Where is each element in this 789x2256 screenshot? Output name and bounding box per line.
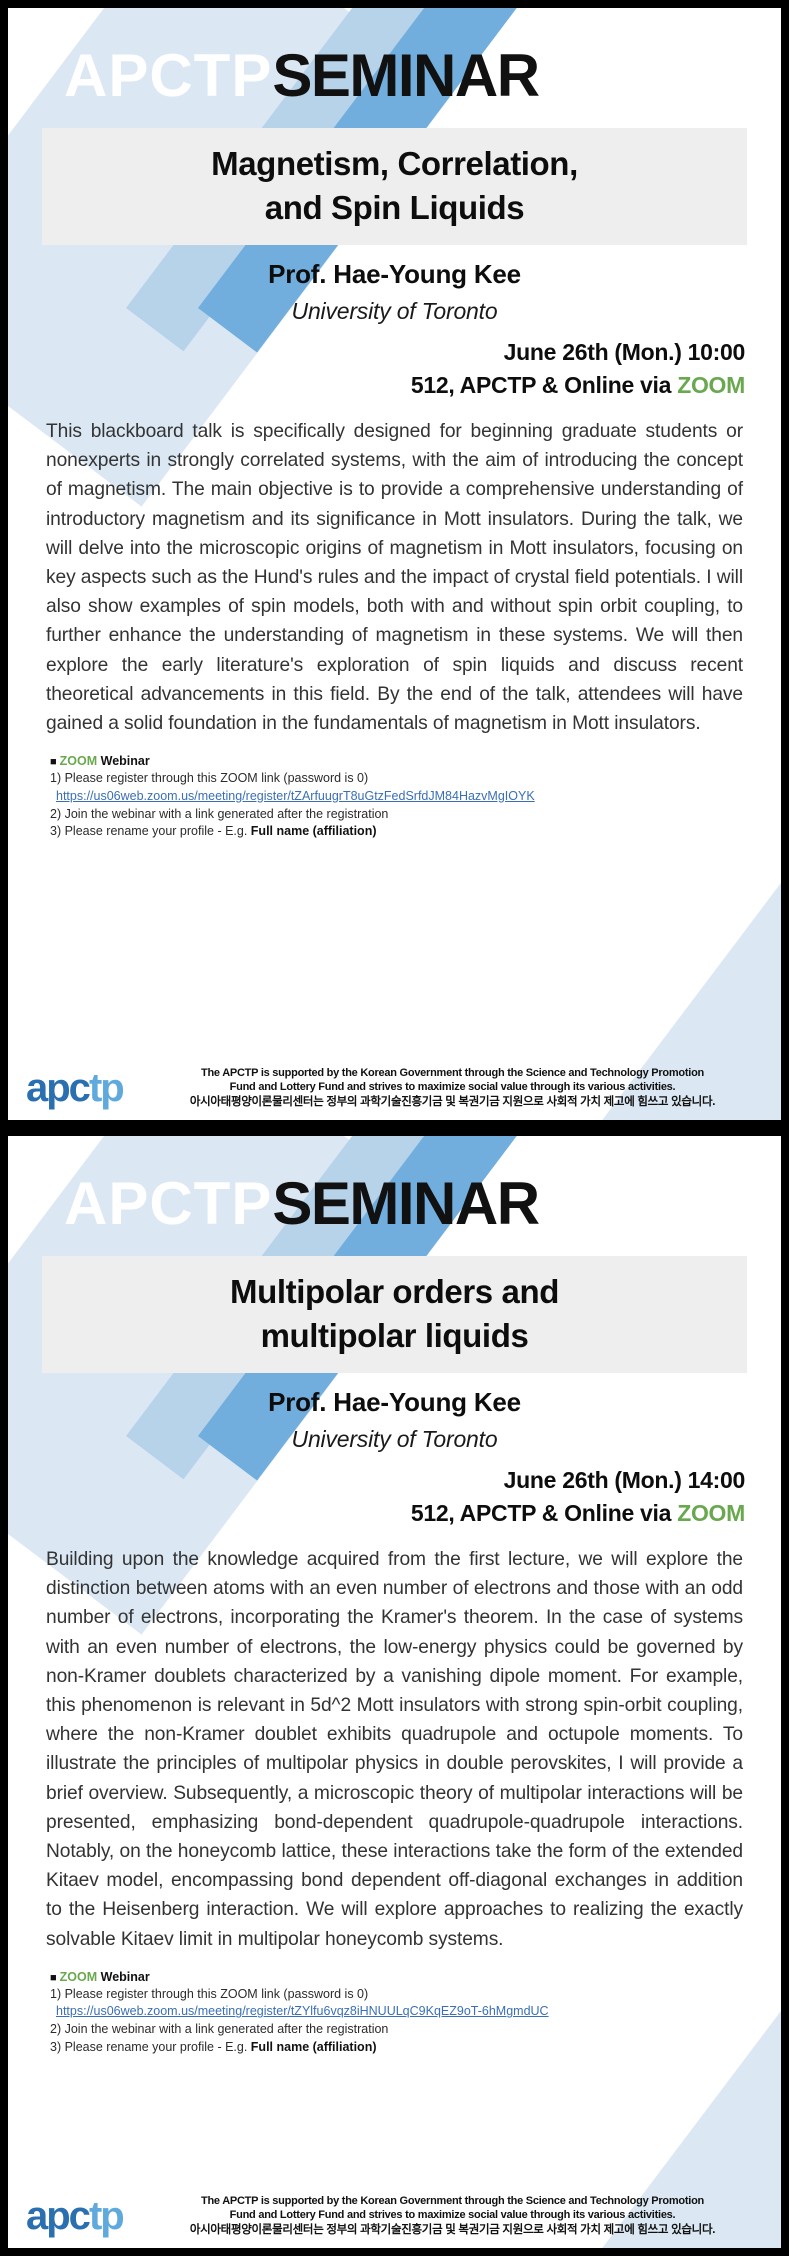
masthead: APCTPSEMINAR [34, 8, 755, 106]
square-bullet-icon: ■ [50, 756, 57, 768]
webinar-step-2: 2) Join the webinar with a link generate… [50, 806, 739, 824]
speaker-affiliation: University of Toronto [34, 298, 755, 325]
masthead-seminar: SEMINAR [272, 42, 538, 109]
apctp-logo-part-2: tp [89, 1066, 123, 1110]
funding-line-en-2: Fund and Lottery Fund and strives to max… [142, 1080, 763, 1094]
venue-zoom-label: ZOOM [677, 1500, 745, 1526]
speaker-name: Prof. Hae-Young Kee [34, 259, 755, 290]
webinar-step-3-prefix: 3) Please rename your profile - E.g. [50, 2040, 251, 2054]
webinar-heading-suffix: Webinar [101, 754, 150, 768]
title-band: Magnetism, Correlation, and Spin Liquids [42, 128, 747, 245]
webinar-step-3-bold: Full name (affiliation) [251, 824, 377, 838]
poster-page: APCTPSEMINAR Magnetism, Correlation, and… [0, 0, 789, 2256]
webinar-heading: ■ZOOM Webinar [50, 754, 739, 768]
seminar-abstract: Building upon the knowledge acquired fro… [34, 1545, 755, 1954]
speaker-name: Prof. Hae-Young Kee [34, 1387, 755, 1418]
webinar-step-3-bold: Full name (affiliation) [251, 2040, 377, 2054]
zoom-registration-link[interactable]: https://us06web.zoom.us/meeting/register… [50, 2003, 739, 2021]
title-band: Multipolar orders and multipolar liquids [42, 1256, 747, 1373]
webinar-step-3: 3) Please rename your profile - E.g. Ful… [50, 2039, 739, 2057]
poster-footer: apctp The APCTP is supported by the Kore… [8, 1056, 781, 1120]
funding-line-en-1: The APCTP is supported by the Korean Gov… [142, 2194, 763, 2208]
masthead-apctp: APCTP [64, 1170, 272, 1237]
apctp-logo-part-1: apc [26, 2194, 89, 2238]
webinar-instructions: ■ZOOM Webinar 1) Please register through… [34, 754, 755, 841]
apctp-logo: apctp [26, 2196, 138, 2236]
seminar-title-line-1: Magnetism, Correlation, [52, 142, 737, 186]
venue-text: 512, APCTP & Online via [411, 372, 677, 398]
square-bullet-icon: ■ [50, 1972, 57, 1984]
seminar-venue: 512, APCTP & Online via ZOOM [34, 372, 755, 399]
funding-line-ko: 아시아태평양이론물리센터는 정부의 과학기술진흥기금 및 복권기금 지원으로 사… [142, 1095, 763, 1110]
apctp-logo-part-2: tp [89, 2194, 123, 2238]
speaker-affiliation: University of Toronto [34, 1426, 755, 1453]
poster-footer: apctp The APCTP is supported by the Kore… [8, 2184, 781, 2248]
webinar-zoom-label: ZOOM [60, 754, 98, 768]
funding-statement: The APCTP is supported by the Korean Gov… [138, 2194, 763, 2238]
seminar-title-line-2: and Spin Liquids [52, 186, 737, 230]
seminar-poster-2: APCTPSEMINAR Multipolar orders and multi… [0, 1128, 789, 2256]
webinar-heading: ■ZOOM Webinar [50, 1970, 739, 1984]
seminar-datetime: June 26th (Mon.) 14:00 [34, 1467, 755, 1494]
webinar-instructions: ■ZOOM Webinar 1) Please register through… [34, 1970, 755, 2057]
webinar-step-2: 2) Join the webinar with a link generate… [50, 2021, 739, 2039]
seminar-venue: 512, APCTP & Online via ZOOM [34, 1500, 755, 1527]
webinar-zoom-label: ZOOM [60, 1970, 98, 1984]
masthead-seminar: SEMINAR [272, 1170, 538, 1237]
funding-line-en-2: Fund and Lottery Fund and strives to max… [142, 2208, 763, 2222]
funding-line-en-1: The APCTP is supported by the Korean Gov… [142, 1066, 763, 1080]
venue-zoom-label: ZOOM [677, 372, 745, 398]
venue-text: 512, APCTP & Online via [411, 1500, 677, 1526]
webinar-heading-suffix: Webinar [101, 1970, 150, 1984]
apctp-logo: apctp [26, 1068, 138, 1108]
masthead: APCTPSEMINAR [34, 1136, 755, 1234]
masthead-apctp: APCTP [64, 42, 272, 109]
seminar-datetime: June 26th (Mon.) 10:00 [34, 339, 755, 366]
funding-statement: The APCTP is supported by the Korean Gov… [138, 1066, 763, 1110]
webinar-step-1: 1) Please register through this ZOOM lin… [50, 770, 739, 788]
seminar-title-line-1: Multipolar orders and [52, 1270, 737, 1314]
webinar-step-3: 3) Please rename your profile - E.g. Ful… [50, 823, 739, 841]
webinar-step-3-prefix: 3) Please rename your profile - E.g. [50, 824, 251, 838]
funding-line-ko: 아시아태평양이론물리센터는 정부의 과학기술진흥기금 및 복권기금 지원으로 사… [142, 2223, 763, 2238]
zoom-registration-link[interactable]: https://us06web.zoom.us/meeting/register… [50, 788, 739, 806]
apctp-logo-part-1: apc [26, 1066, 89, 1110]
seminar-title-line-2: multipolar liquids [52, 1314, 737, 1358]
webinar-step-1: 1) Please register through this ZOOM lin… [50, 1986, 739, 2004]
seminar-abstract: This blackboard talk is specifically des… [34, 417, 755, 738]
seminar-poster-1: APCTPSEMINAR Magnetism, Correlation, and… [0, 0, 789, 1128]
